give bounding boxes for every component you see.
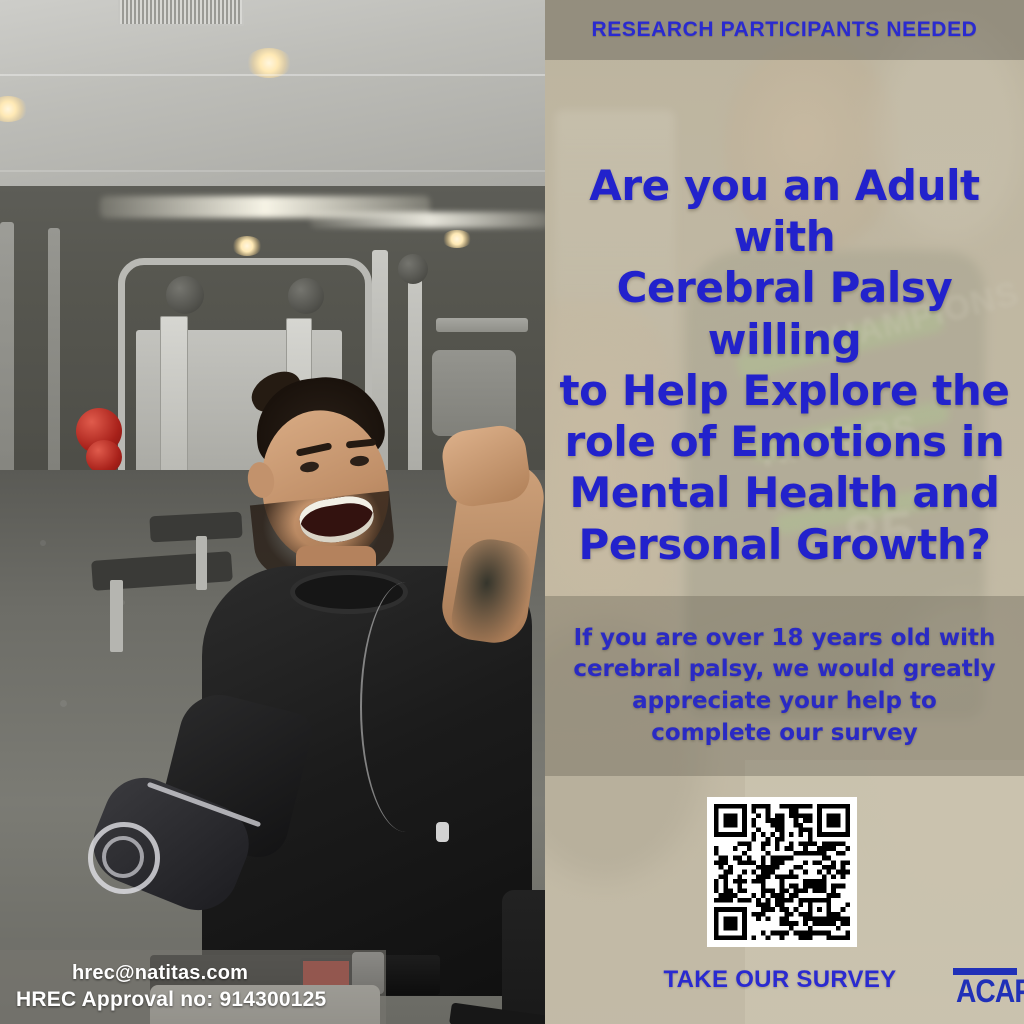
weight-plate — [166, 276, 204, 314]
subtext-line: appreciate your help to — [632, 686, 937, 718]
raised-fist — [439, 423, 533, 510]
qr-code-canvas[interactable] — [714, 804, 850, 940]
headline-line: role of Emotions in — [553, 416, 1016, 467]
ceiling-spotlight — [442, 230, 472, 248]
headline-line: to Help Explore the — [553, 365, 1016, 416]
header-banner-text: RESEARCH PARTICIPANTS NEEDED — [592, 18, 978, 42]
take-survey-label[interactable]: TAKE OUR SURVEY — [620, 966, 940, 994]
headline-line: Cerebral Palsy willing — [553, 262, 1016, 364]
gym-photo-man-in-wheelchair: hrec@natitas.com HREC Approval no: 91430… — [0, 0, 545, 1024]
earbud — [436, 822, 449, 842]
gym-machine-post — [0, 222, 14, 492]
gym-machine-post — [48, 228, 60, 490]
headline-line: Are you an Adult with — [553, 160, 1016, 262]
earphone-wire — [360, 582, 452, 832]
poster-root: hrec@natitas.com HREC Approval no: 91430… — [0, 0, 1024, 1024]
ceiling-seam — [0, 74, 545, 76]
ceiling-spotlight — [232, 236, 262, 256]
bench-leg — [110, 580, 123, 652]
headline-line: Personal Growth? — [553, 519, 1016, 570]
person-in-wheelchair — [150, 370, 545, 1024]
contact-info: hrec@natitas.com HREC Approval no: 91430… — [0, 950, 386, 1024]
acap-logo-text: ACAP — [956, 977, 1014, 1006]
subtext-line: cerebral palsy, we would greatly — [573, 654, 995, 686]
weight-plate — [288, 278, 324, 314]
subtext-line: complete our survey — [651, 718, 917, 750]
ceiling-seam — [0, 170, 545, 172]
headline-line: Mental Health and — [553, 467, 1016, 518]
subtext-line: If you are over 18 years old with — [574, 623, 996, 655]
ceiling-vent-icon — [118, 0, 244, 26]
hrec-approval-number: HREC Approval no: 914300125 — [0, 988, 386, 1012]
contact-email: hrec@natitas.com — [0, 962, 386, 984]
header-banner: RESEARCH PARTICIPANTS NEEDED — [545, 0, 1024, 60]
exercise-ball — [86, 440, 122, 474]
sleeve-ring-pattern — [102, 836, 144, 878]
subtext: If you are over 18 years old with cerebr… — [545, 596, 1024, 776]
wheelchair-backrest — [502, 890, 545, 1024]
mirror-light-reflection — [310, 212, 545, 228]
weight-plate — [398, 254, 428, 284]
floor-speck — [40, 540, 46, 546]
gym-machine-bar — [436, 318, 528, 332]
headline: Are you an Adult with Cerebral Palsy wil… — [545, 160, 1024, 570]
survey-qr-code[interactable] — [707, 797, 857, 947]
ceiling — [0, 0, 545, 190]
acap-logo: ACAP — [952, 968, 1018, 1006]
floor-speck — [60, 700, 67, 707]
